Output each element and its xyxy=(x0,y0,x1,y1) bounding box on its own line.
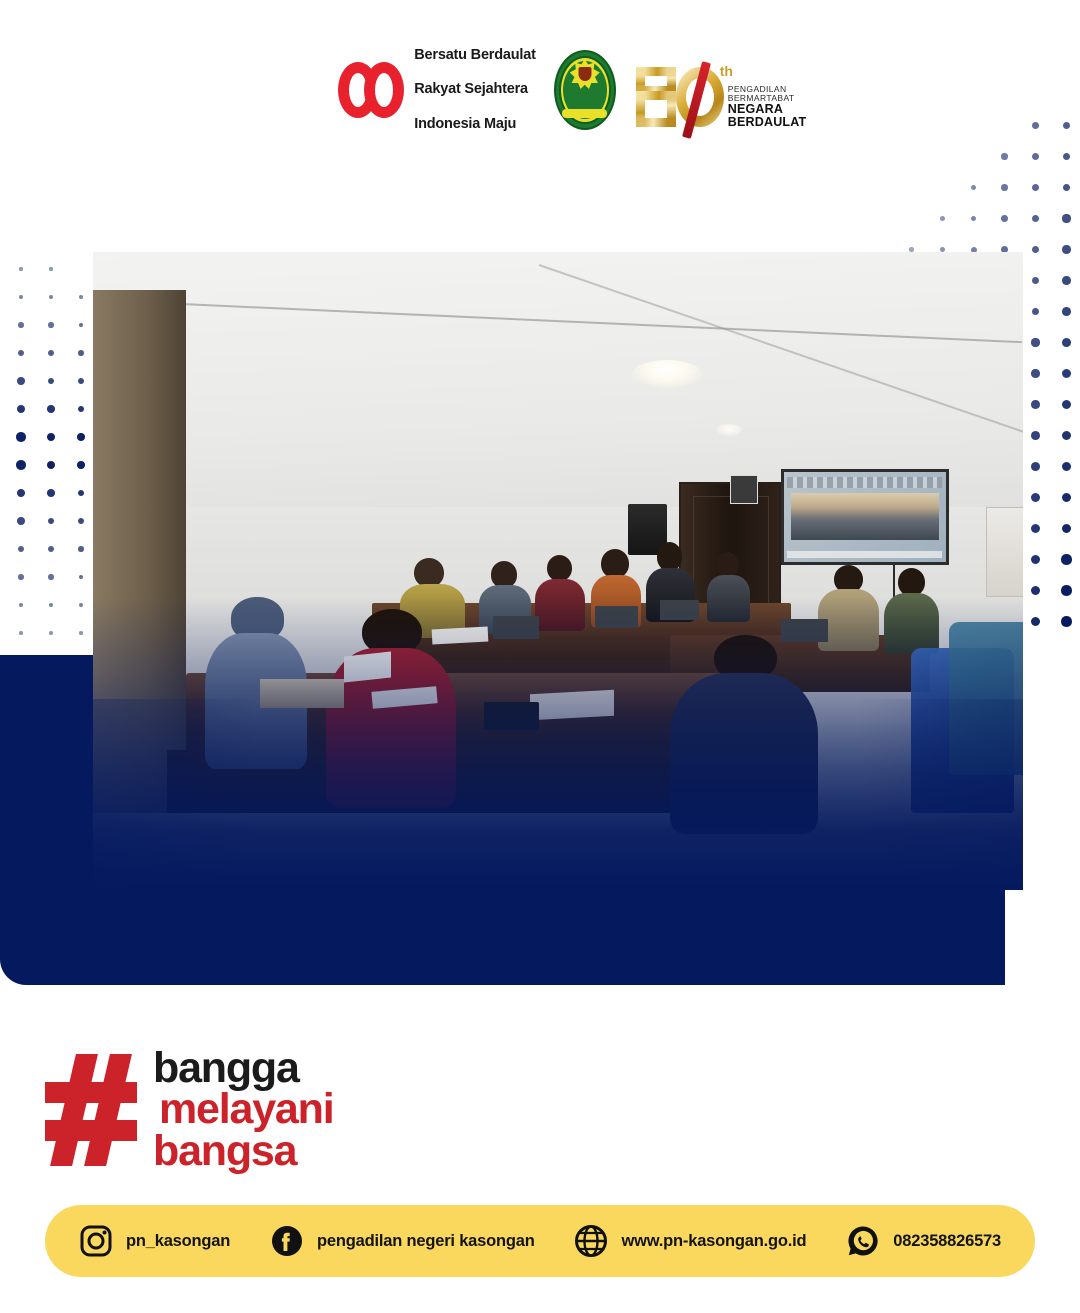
notebook xyxy=(530,690,614,720)
meeting-photo xyxy=(93,252,1023,890)
instagram-handle: pn_kasongan xyxy=(126,1232,230,1251)
facebook-icon xyxy=(270,1224,304,1258)
website-url: www.pn-kasongan.go.id xyxy=(621,1232,806,1251)
attendee xyxy=(707,552,750,619)
contact-website[interactable]: www.pn-kasongan.go.id xyxy=(574,1224,806,1258)
wall-monitor xyxy=(730,475,758,504)
hut-ri-slogan-line2: Rakyat Sejahtera xyxy=(414,81,536,98)
tissue-box xyxy=(260,679,344,708)
tagline-line3: bangsa xyxy=(153,1131,333,1172)
instagram-icon xyxy=(79,1224,113,1258)
ma-tagline: PENGADILAN BERMARTABAT NEGARA BERDAULAT xyxy=(728,85,807,129)
laptop xyxy=(660,600,699,620)
laptop xyxy=(781,619,828,642)
contact-instagram[interactable]: pn_kasongan xyxy=(79,1224,230,1258)
ma-tagline-line2: NEGARA BERDAULAT xyxy=(728,103,807,129)
attendee xyxy=(535,555,585,628)
ma-superscript: th xyxy=(720,63,733,79)
globe-icon xyxy=(574,1224,608,1258)
contact-facebook[interactable]: pengadilan negeri kasongan xyxy=(270,1224,535,1258)
court-seal-icon xyxy=(554,50,616,130)
projector-screen xyxy=(781,469,948,565)
laptop xyxy=(493,616,540,639)
contact-whatsapp[interactable]: 082358826573 xyxy=(846,1224,1001,1258)
mahkamah-agung-80th-logo: th PENGADILAN BERMARTABAT NEGARA BERDAUL… xyxy=(634,51,742,129)
bangga-melayani-bangsa-logo: bangga melayani bangsa xyxy=(45,1045,465,1175)
ma-80-numeral: th xyxy=(634,65,742,129)
laptop xyxy=(595,606,638,628)
left-wall-panel xyxy=(93,290,186,813)
camera-case xyxy=(484,702,540,731)
tagline-line1: bangga xyxy=(153,1048,333,1089)
name-card xyxy=(344,651,391,681)
attendee xyxy=(884,568,940,651)
wall-poster xyxy=(986,507,1023,596)
tagline-words: bangga melayani bangsa xyxy=(153,1048,333,1172)
tagline-line2: melayani xyxy=(153,1089,333,1130)
hut-ri-slogan-line1: Bersatu Berdaulat xyxy=(414,47,536,64)
attendee-foreground xyxy=(670,635,819,826)
poster-canvas: Bersatu Berdaulat Rakyat Sejahtera Indon… xyxy=(0,0,1080,1313)
hut-ri-slogan-line3: Indonesia Maju xyxy=(414,116,536,133)
photo-scene xyxy=(93,252,1023,890)
contact-footer-bar: pn_kasongan pengadilan negeri kasongan w… xyxy=(45,1205,1035,1277)
whatsapp-number: 082358826573 xyxy=(893,1232,1001,1251)
header-logo-row: Bersatu Berdaulat Rakyat Sejahtera Indon… xyxy=(0,40,1080,140)
hashtag-icon xyxy=(45,1054,137,1166)
whatsapp-icon xyxy=(846,1224,880,1258)
ma-tagline-line1: PENGADILAN BERMARTABAT xyxy=(728,85,807,103)
decorative-dots-left xyxy=(6,255,98,655)
facebook-page-name: pengadilan negeri kasongan xyxy=(317,1232,535,1251)
hut-ri-80-logo: Bersatu Berdaulat Rakyat Sejahtera Indon… xyxy=(338,30,536,150)
stacked-chairs xyxy=(949,622,1023,775)
hut-ri-slogan: Bersatu Berdaulat Rakyat Sejahtera Indon… xyxy=(414,30,536,150)
hut-ri-80-numeral xyxy=(338,62,404,118)
